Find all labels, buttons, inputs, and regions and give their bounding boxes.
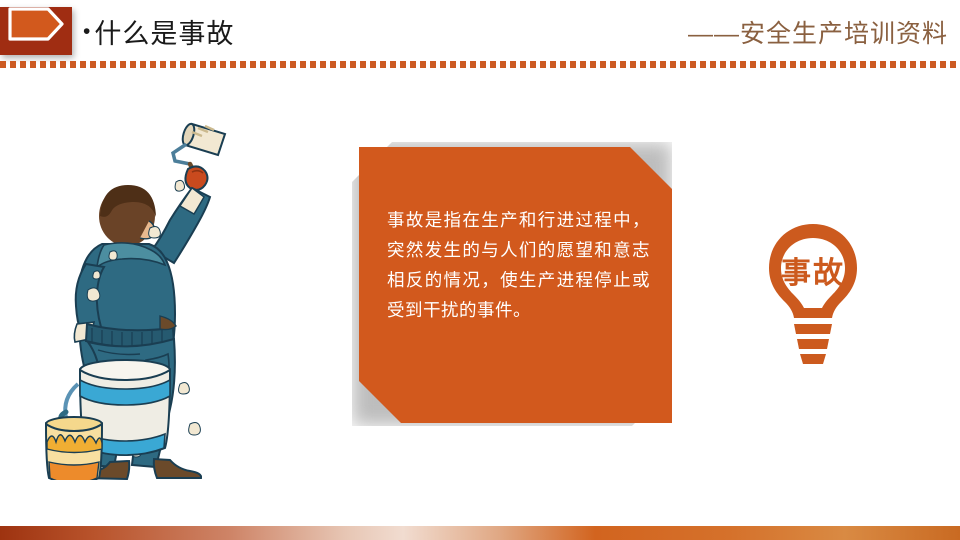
title-label: 什么是事故 <box>94 12 234 51</box>
callout-body-text: 事故是指在生产和行进过程中，突然发生的与人们的愿望和意志相反的情况，使生产进程停… <box>387 205 650 325</box>
slide-header: • 什么是事故 ——安全生产培训资料 <box>0 0 960 62</box>
lightbulb-icon <box>757 218 869 370</box>
header-dashed-divider <box>0 61 960 68</box>
callout-box: 事故是指在生产和行进过程中，突然发生的与人们的愿望和意志相反的情况，使生产进程停… <box>359 147 672 423</box>
footer-gradient-bar <box>0 526 960 540</box>
paint-can-small <box>46 417 102 480</box>
worker-glove <box>185 166 207 189</box>
painter-worker-illustration <box>42 112 292 480</box>
title-bullet: • <box>83 21 90 42</box>
arrow-pentagon-icon <box>8 7 64 41</box>
subtitle-label: ——安全生产培训资料 <box>688 14 948 50</box>
slide-canvas: • 什么是事故 ——安全生产培训资料 <box>0 0 960 540</box>
page-title: • 什么是事故 <box>83 8 234 54</box>
